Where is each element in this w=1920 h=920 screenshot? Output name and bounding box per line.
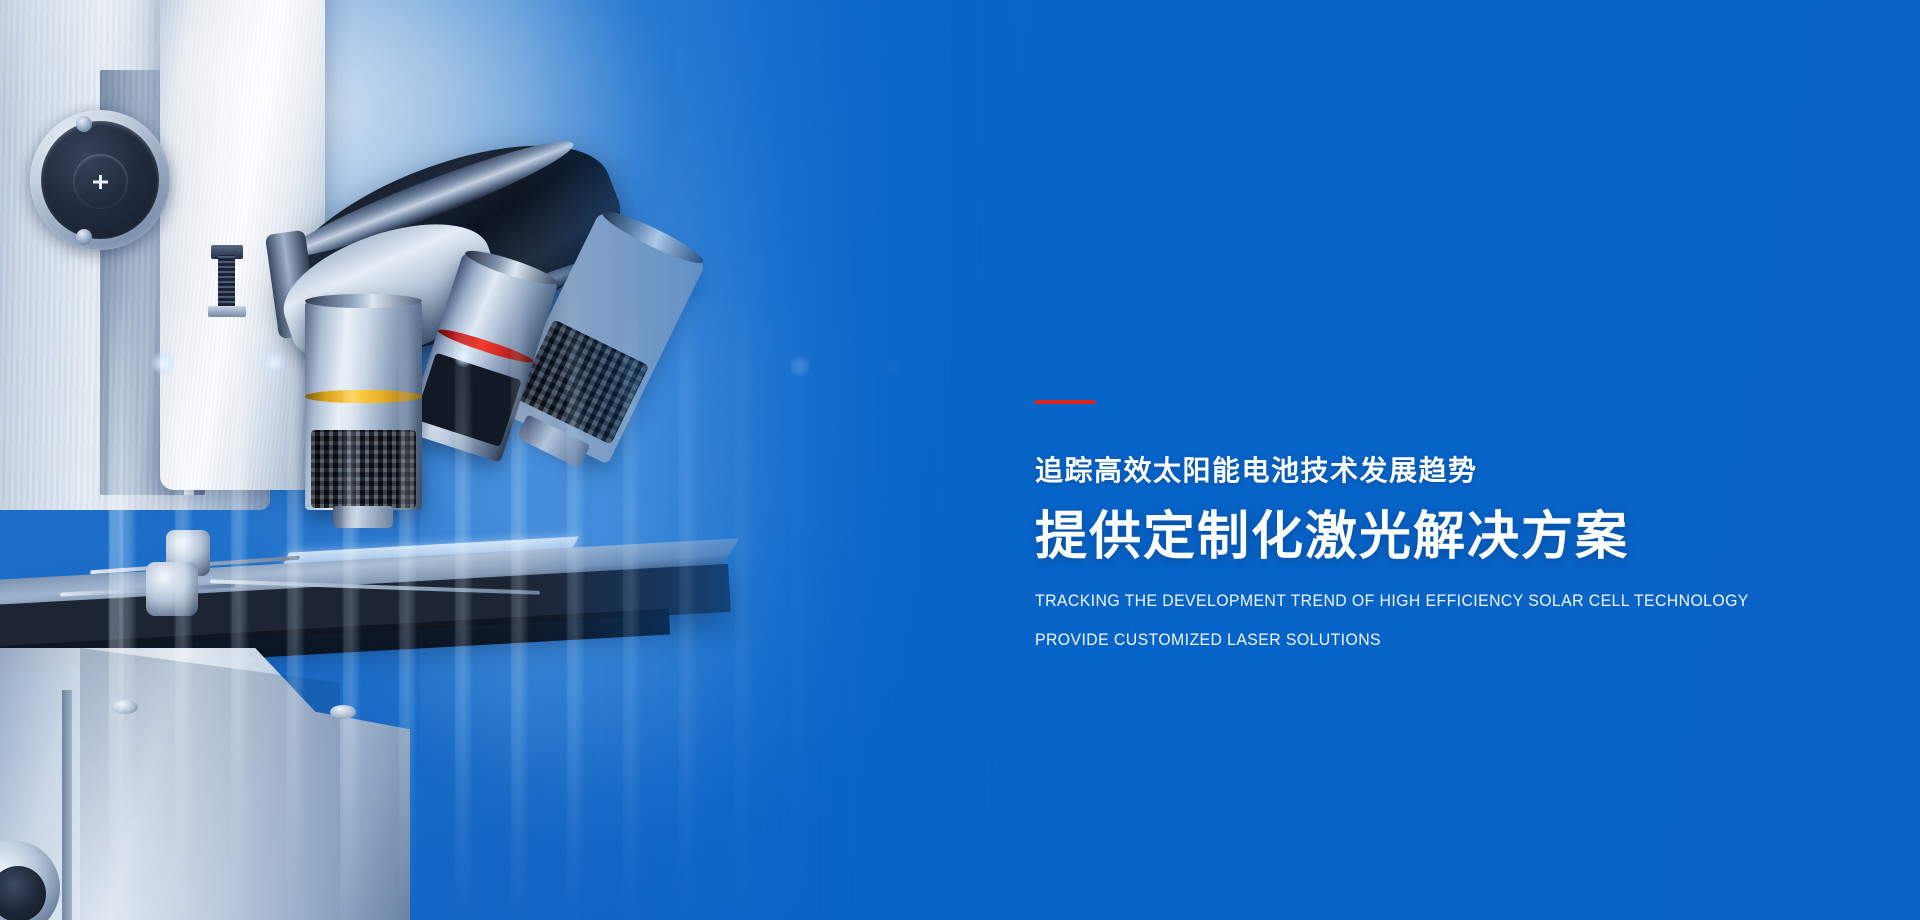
focus-knob-center <box>73 154 128 209</box>
photo-edge-fade <box>520 0 1010 920</box>
knob-screw-bottom <box>76 229 92 245</box>
banner-subtitle-en-line1: TRACKING THE DEVELOPMENT TREND OF HIGH E… <box>1035 592 1798 611</box>
bokeh-dot-3 <box>455 348 473 366</box>
banner-subtitle-en-line2: PROVIDE CUSTOMIZED LASER SOLUTIONS <box>1035 631 1798 650</box>
banner-subtitle-cn: 追踪高效太阳能电池技术发展趋势 <box>1035 456 1855 487</box>
bokeh-dot-2 <box>262 350 286 374</box>
bokeh-dot-1 <box>152 352 174 374</box>
focus-knob <box>30 110 170 250</box>
knob-screw-top <box>76 116 92 132</box>
banner-title-cn: 提供定制化激光解决方案 <box>1035 508 1855 566</box>
banner-text-block: 追踪高效太阳能电池技术发展趋势 提供定制化激光解决方案 TRACKING THE… <box>1035 400 1855 649</box>
hero-banner: 追踪高效太阳能电池技术发展趋势 提供定制化激光解决方案 TRACKING THE… <box>0 0 1920 920</box>
microscope-base-seam <box>62 690 72 920</box>
phillips-screw-icon <box>93 175 108 189</box>
accent-rule <box>1035 400 1095 404</box>
focus-knob-face <box>41 121 159 239</box>
microscope-photograph <box>0 0 1010 920</box>
